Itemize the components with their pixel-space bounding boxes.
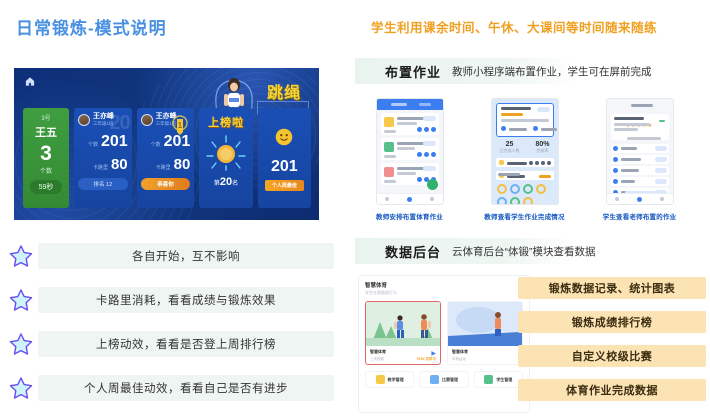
- student-row[interactable]: [611, 166, 669, 175]
- progress-ring: [523, 184, 533, 194]
- nav-tab-icon[interactable]: [637, 197, 642, 202]
- phone-caption-3: 学生查看老师布置的作业: [603, 211, 677, 221]
- progress-ring: [523, 197, 533, 205]
- player-card-2: 1 王亦峰 三年级1班 个数 201 卡路里 80 恭喜你: [137, 108, 195, 208]
- phone-column-3: ★★★★★ 学生查看老师布置的作业: [590, 98, 689, 226]
- leaderboard-card: 上榜啦 第20名: [199, 108, 252, 208]
- bullet-text: 卡路里消耗，看看成绩与锻炼效果: [38, 287, 334, 313]
- progress-ring: [497, 197, 507, 205]
- list-item: 各自开始，互不影响: [8, 238, 334, 274]
- phone-navbar-3[interactable]: [607, 193, 673, 204]
- calorie-label-1: 卡路里: [93, 164, 108, 171]
- assignment-icon: [384, 142, 394, 152]
- phone-screenshot-1[interactable]: [376, 98, 444, 205]
- right-headline: 学生利用课余时间、午休、大课间等时间随来随练: [371, 17, 657, 36]
- star-icon: [8, 375, 34, 401]
- phone-column-2: 25 已完成人数 80% 完成率: [475, 98, 574, 226]
- progress-ring: [497, 184, 507, 194]
- student-row[interactable]: [611, 177, 669, 186]
- nav-tab-icon[interactable]: [407, 197, 412, 202]
- stat-label: 完成率: [535, 148, 549, 154]
- star-icon: [8, 331, 34, 357]
- card-name: 智慧体育: [370, 349, 436, 355]
- card-meta: 智慧体育 上传视频 ▶ 9782 次学习: [366, 346, 440, 365]
- star-icon: [8, 287, 34, 313]
- active-player-card: 3号 王五 3 个数 59秒: [23, 108, 69, 208]
- stat-number: 80%: [535, 141, 549, 148]
- personal-best-badge: 个人周最佳: [265, 180, 304, 191]
- backend-card-2[interactable]: 智慧体育 体育运动: [447, 301, 523, 365]
- tab-label: 比赛管理: [442, 377, 458, 383]
- player-name: 王五: [35, 124, 57, 140]
- card-name: 智慧体育: [452, 349, 518, 355]
- status-badge: [423, 141, 436, 146]
- bullet-text: 个人周最佳动效，看看自己是否有进步: [38, 375, 334, 401]
- feature-tag-3: 自定义校级比赛: [518, 345, 706, 367]
- phone-caption-2: 教师查看学生作业完成情况: [484, 211, 564, 221]
- status-badge: [423, 116, 436, 121]
- filter-strip[interactable]: [496, 158, 554, 167]
- add-assignment-button[interactable]: [427, 179, 438, 190]
- stat-item: 25 已完成人数: [499, 141, 519, 154]
- card-illustration: [448, 302, 522, 346]
- avatar: [141, 114, 153, 126]
- backend-tab-row: 教学管理 比赛管理 学生管理: [359, 365, 529, 394]
- rank-number: 20: [220, 176, 232, 188]
- skater-illustration: [448, 302, 522, 346]
- teaching-icon: [376, 375, 385, 384]
- backend-dashboard-screenshot[interactable]: 智慧体育 学生在家锻炼打卡: [358, 275, 530, 413]
- backend-card-highlighted[interactable]: 智慧体育 上传视频 ▶ 9782 次学习: [365, 301, 441, 365]
- assignment-summary-card[interactable]: [496, 103, 554, 137]
- svg-text:1: 1: [178, 121, 183, 130]
- personal-best-card: 201 个人周最佳: [258, 108, 311, 208]
- student-ring-grid: [492, 184, 558, 205]
- status-badge: [423, 166, 436, 171]
- card-meta: 智慧体育 体育运动: [448, 346, 522, 365]
- count-label-1: 个数: [88, 141, 98, 148]
- backend-card-row: 智慧体育 上传视频 ▶ 9782 次学习: [359, 296, 529, 365]
- section-desc: 教师小程序端布置作业，学生可在屏前完成: [452, 64, 652, 79]
- section-header-assign: 布置作业 教师小程序端布置作业，学生可在屏前完成: [355, 58, 710, 84]
- page-title: 日常锻炼-模式说明: [16, 14, 167, 39]
- student-icon: [484, 375, 493, 384]
- rank-suffix: 名: [232, 181, 238, 187]
- bullet-text: 各自开始，互不影响: [38, 243, 334, 269]
- student-row[interactable]: [611, 144, 669, 153]
- progress-ring: [510, 184, 520, 194]
- close-icon[interactable]: [537, 107, 550, 112]
- progress-ring: [510, 197, 520, 205]
- bullet-text: 上榜动效，看看是否登上周排行榜: [38, 331, 334, 357]
- phone-statusbar-3: [607, 99, 673, 110]
- avatar-group: [417, 152, 436, 157]
- activity-title: 跳绳: [267, 79, 301, 103]
- feature-tag-1: 锻炼数据记录、统计图表: [518, 277, 706, 299]
- card-illustration: [366, 302, 440, 346]
- avatar: [78, 114, 90, 126]
- backend-panel-title: 智慧体育: [365, 281, 529, 289]
- avatar-group: [417, 127, 436, 132]
- player-card-1: 20 王亦峰 三年级1班 个数 201 卡路里 80 排名 12: [74, 108, 132, 208]
- calorie-value-1: 80: [111, 157, 128, 172]
- assignment-row[interactable]: [381, 113, 439, 135]
- list-item: 卡路里消耗，看看成绩与锻炼效果: [8, 282, 334, 318]
- card-sub: 体育运动: [452, 357, 518, 362]
- feature-bullet-list: 各自开始，互不影响 卡路里消耗，看看成绩与锻炼效果 上榜动效，看看是否登上周排行…: [8, 238, 334, 414]
- stat-item: 80% 完成率: [535, 141, 549, 154]
- phone-screenshot-2[interactable]: 25 已完成人数 80% 完成率: [491, 98, 559, 205]
- rank-line: 第20名: [214, 176, 238, 188]
- congrats-footer-2: 恭喜你: [141, 178, 191, 190]
- player-number: 3号: [41, 113, 50, 122]
- section-title: 布置作业: [385, 62, 441, 81]
- competition-icon: [430, 375, 439, 384]
- calorie-value-2: 80: [174, 157, 191, 172]
- section-title: 数据后台: [385, 242, 441, 261]
- tab-label: 学生管理: [496, 377, 512, 383]
- home-icon[interactable]: [24, 76, 36, 87]
- phone-screenshot-3[interactable]: ★★★★★: [606, 98, 674, 205]
- slide-canvas: 日常锻炼-模式说明 跳绳 3号 王五 3 个数 59秒: [0, 0, 710, 419]
- list-item: 上榜动效，看看是否登上周排行榜: [8, 326, 334, 362]
- section-header-backend: 数据后台 云体育后台“体锻”模块查看数据: [355, 238, 710, 264]
- sunburst-icon: [204, 134, 248, 174]
- player-timer: 59秒: [30, 180, 63, 194]
- ghost-number-1: 20: [109, 112, 129, 135]
- feature-tag-4: 体育作业完成数据: [518, 379, 706, 401]
- score-cards-row: 3号 王五 3 个数 59秒 20 王亦峰 三年级1班 个数 201: [23, 108, 311, 208]
- stat-number: 25: [499, 141, 519, 148]
- rank-footer-1: 排名 12: [78, 178, 128, 190]
- tab-competition-management[interactable]: 比赛管理: [419, 371, 468, 388]
- leaderboard-title: 上榜啦: [208, 114, 244, 130]
- player-count: 3: [40, 143, 52, 164]
- runners-illustration: [366, 302, 440, 346]
- list-item: 个人周最佳动效，看看自己是否有进步: [8, 370, 334, 406]
- star-icon: [8, 243, 34, 269]
- assignment-row[interactable]: [381, 138, 439, 160]
- card-count: 9782 次学习: [417, 357, 436, 362]
- nav-tab-icon[interactable]: [660, 197, 664, 201]
- student-row[interactable]: [611, 155, 669, 164]
- count-value-1: 201: [101, 134, 128, 150]
- count-label-2: 个数: [151, 141, 161, 148]
- tab-student-management[interactable]: 学生管理: [474, 371, 523, 388]
- filter-icon: [499, 160, 504, 165]
- assignment-icon: [384, 167, 394, 177]
- phone-navbar-1[interactable]: [377, 193, 443, 204]
- smiley-sun-icon: [273, 126, 295, 148]
- nav-tab-icon[interactable]: [385, 197, 389, 201]
- phone-column-1: 教师安排布置体育作业: [360, 98, 459, 226]
- nav-tab-icon[interactable]: [430, 197, 434, 201]
- stat-label: 已完成人数: [499, 148, 519, 154]
- player-count-label: 个数: [40, 166, 52, 175]
- medal-icon: 1: [170, 114, 190, 144]
- progress-ring: [536, 184, 546, 194]
- status-badge: [659, 120, 665, 122]
- nav-tab-icon[interactable]: [615, 197, 619, 201]
- phone-screenshots: 教师安排布置体育作业 25 已完: [360, 98, 705, 226]
- play-icon[interactable]: ▶: [431, 350, 436, 357]
- section-desc: 云体育后台“体锻”模块查看数据: [452, 244, 596, 259]
- completion-stats: 25 已完成人数 80% 完成率: [492, 141, 558, 154]
- tab-label: 教学管理: [388, 377, 404, 383]
- assignment-icon: [384, 117, 394, 127]
- feature-tag-2: 锻炼成绩排行榜: [518, 311, 706, 333]
- phone-caption-1: 教师安排布置体育作业: [376, 211, 443, 221]
- calorie-label-2: 卡路里: [156, 164, 171, 171]
- exercise-demo-screen: 跳绳 3号 王五 3 个数 59秒 20: [14, 68, 319, 220]
- phone-statusbar-1: [377, 99, 443, 110]
- assignment-detail-card[interactable]: ★★★★★: [611, 114, 669, 140]
- tab-teaching-management[interactable]: 教学管理: [365, 371, 414, 388]
- personal-best-value: 201: [271, 158, 298, 176]
